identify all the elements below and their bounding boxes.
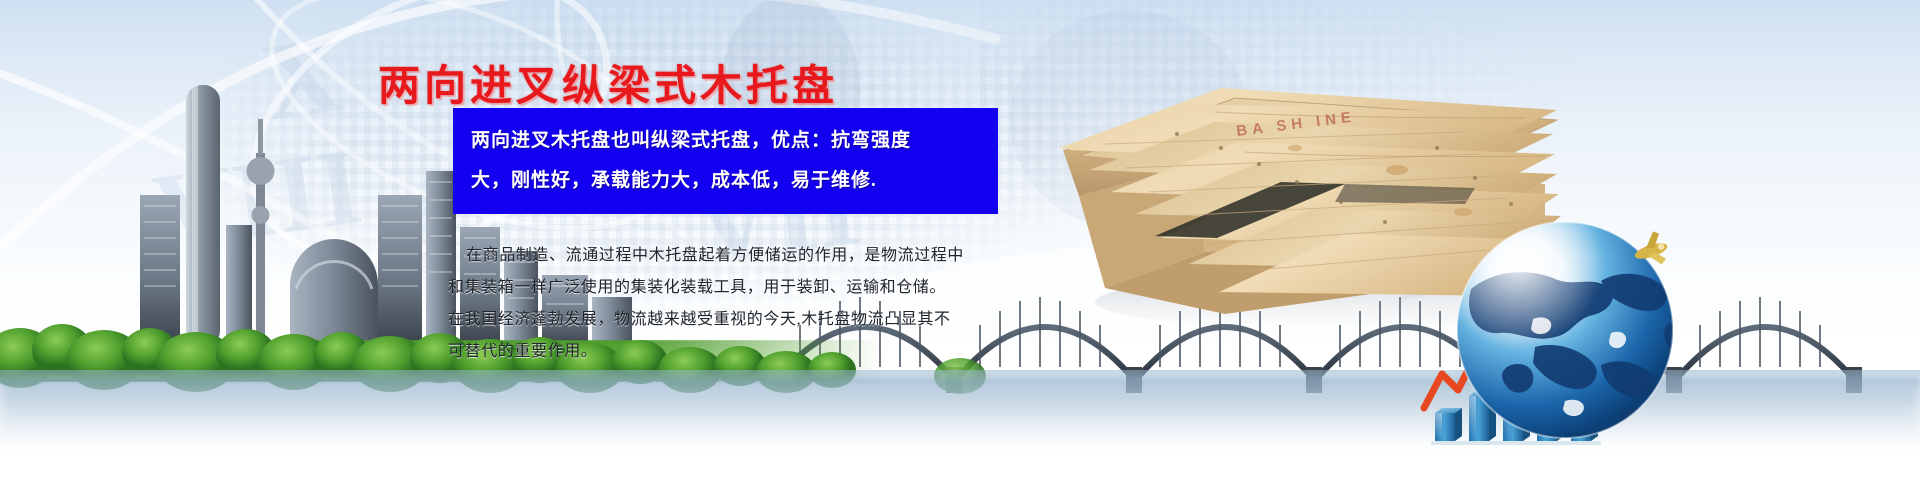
body-line-1: 在商品制造、流通过程中木托盘起着方便储运的作用，是物流过程中 [448,240,1038,272]
body-line-3: 在我国经济蓬勃发展，物流越来越受重视的今天,木托盘物流凸显其不 [448,304,1038,336]
product-banner: VIII X VII XI [0,0,1920,500]
blue-earth-globe [1415,215,1715,445]
highlight-line-1: 两向进叉木托盘也叫纵梁式托盘，优点：抗弯强度 [471,121,980,161]
body-line-2: 和集装箱一样广泛使用的集装化装载工具，用于装卸、运输和仓储。 [448,272,1038,304]
page-title: 两向进叉纵梁式木托盘 [378,52,838,113]
highlight-callout-box: 两向进叉木托盘也叫纵梁式托盘，优点：抗弯强度 大，刚性好，承载能力大，成本低，易… [453,108,998,214]
body-line-4: 可替代的重要作用。 [448,336,1038,368]
highlight-line-2: 大，刚性好，承载能力大，成本低，易于维修. [471,161,980,201]
body-description: 在商品制造、流通过程中木托盘起着方便储运的作用，是物流过程中 和集装箱一样广泛使… [448,240,1038,368]
